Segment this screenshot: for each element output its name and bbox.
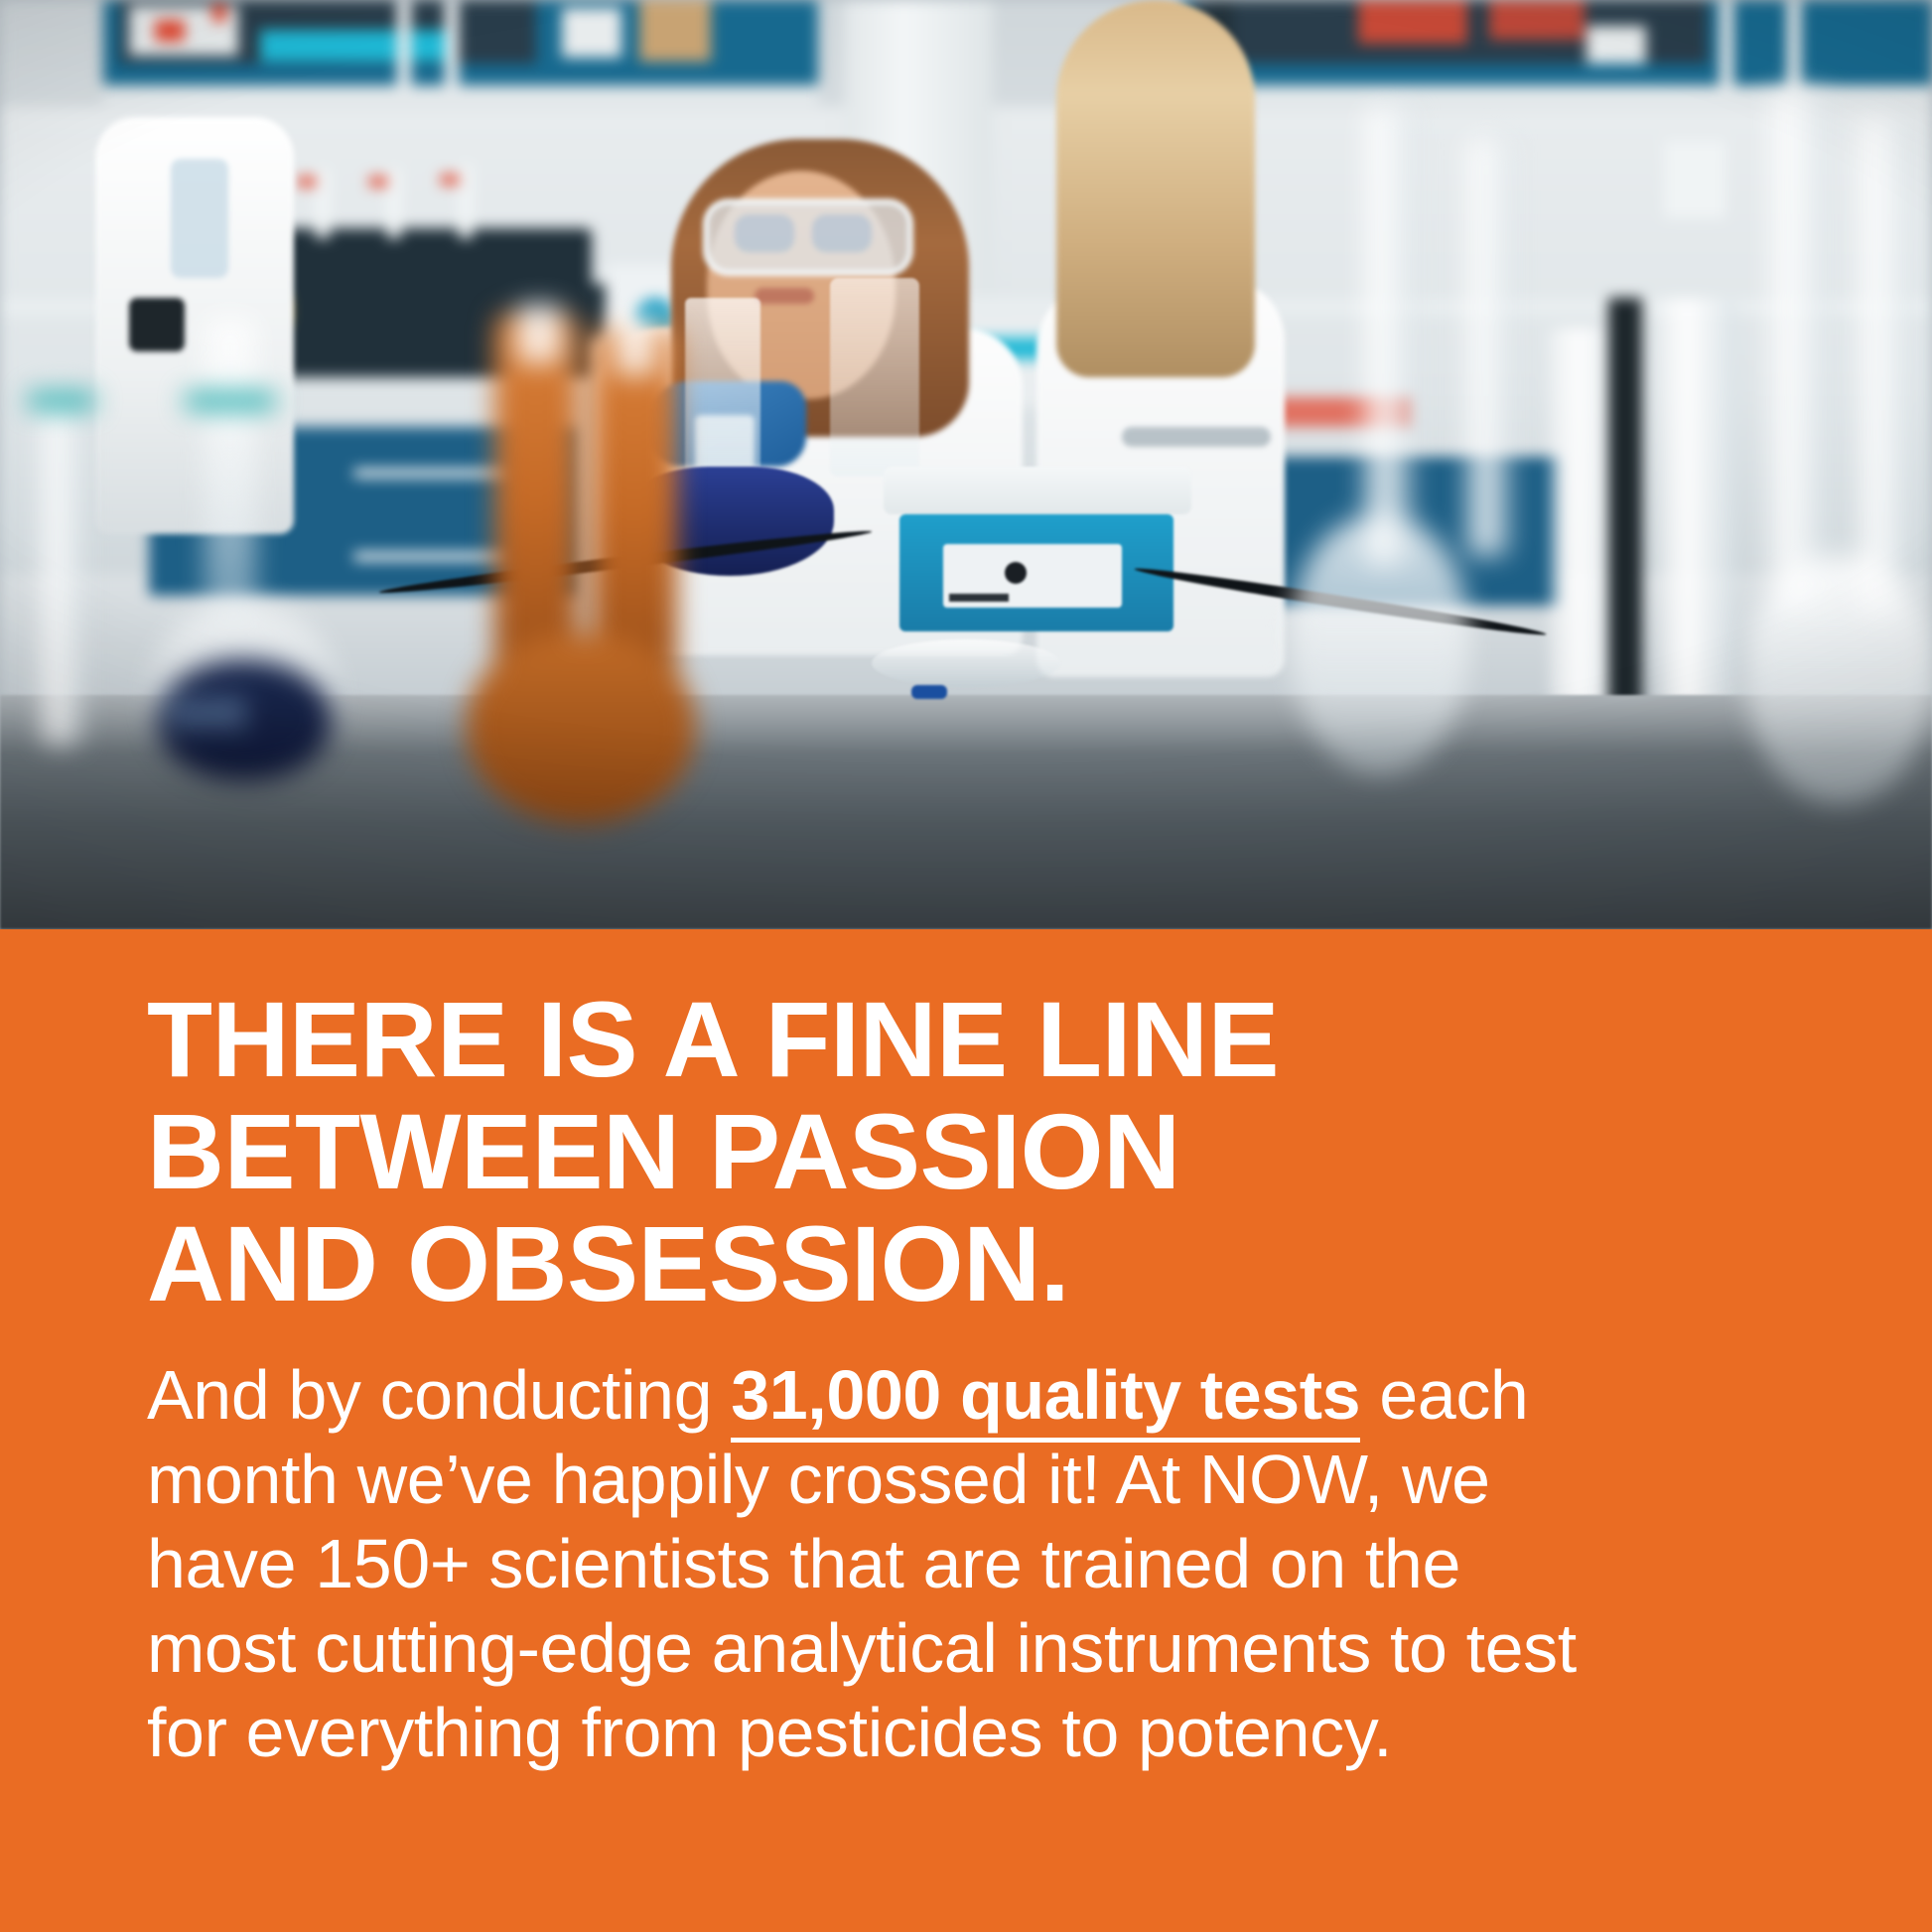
copy-block: THERE IS A FINE LINE BETWEEN PASSION AND… xyxy=(147,983,1775,1775)
body-text-before: And by conducting xyxy=(147,1356,731,1434)
quality-tests-highlight: 31,000 quality tests xyxy=(731,1356,1360,1443)
body-paragraph: And by conducting 31,000 quality tests e… xyxy=(147,1353,1596,1775)
orange-text-panel: THERE IS A FINE LINE BETWEEN PASSION AND… xyxy=(0,929,1932,1932)
page-title: THERE IS A FINE LINE BETWEEN PASSION AND… xyxy=(147,983,1775,1319)
lab-photo: 500 xyxy=(0,0,1932,929)
promo-card: 500 THERE IS A FINE LINE BETWEEN PASSION… xyxy=(0,0,1932,1932)
photo-vignette xyxy=(0,0,1932,929)
